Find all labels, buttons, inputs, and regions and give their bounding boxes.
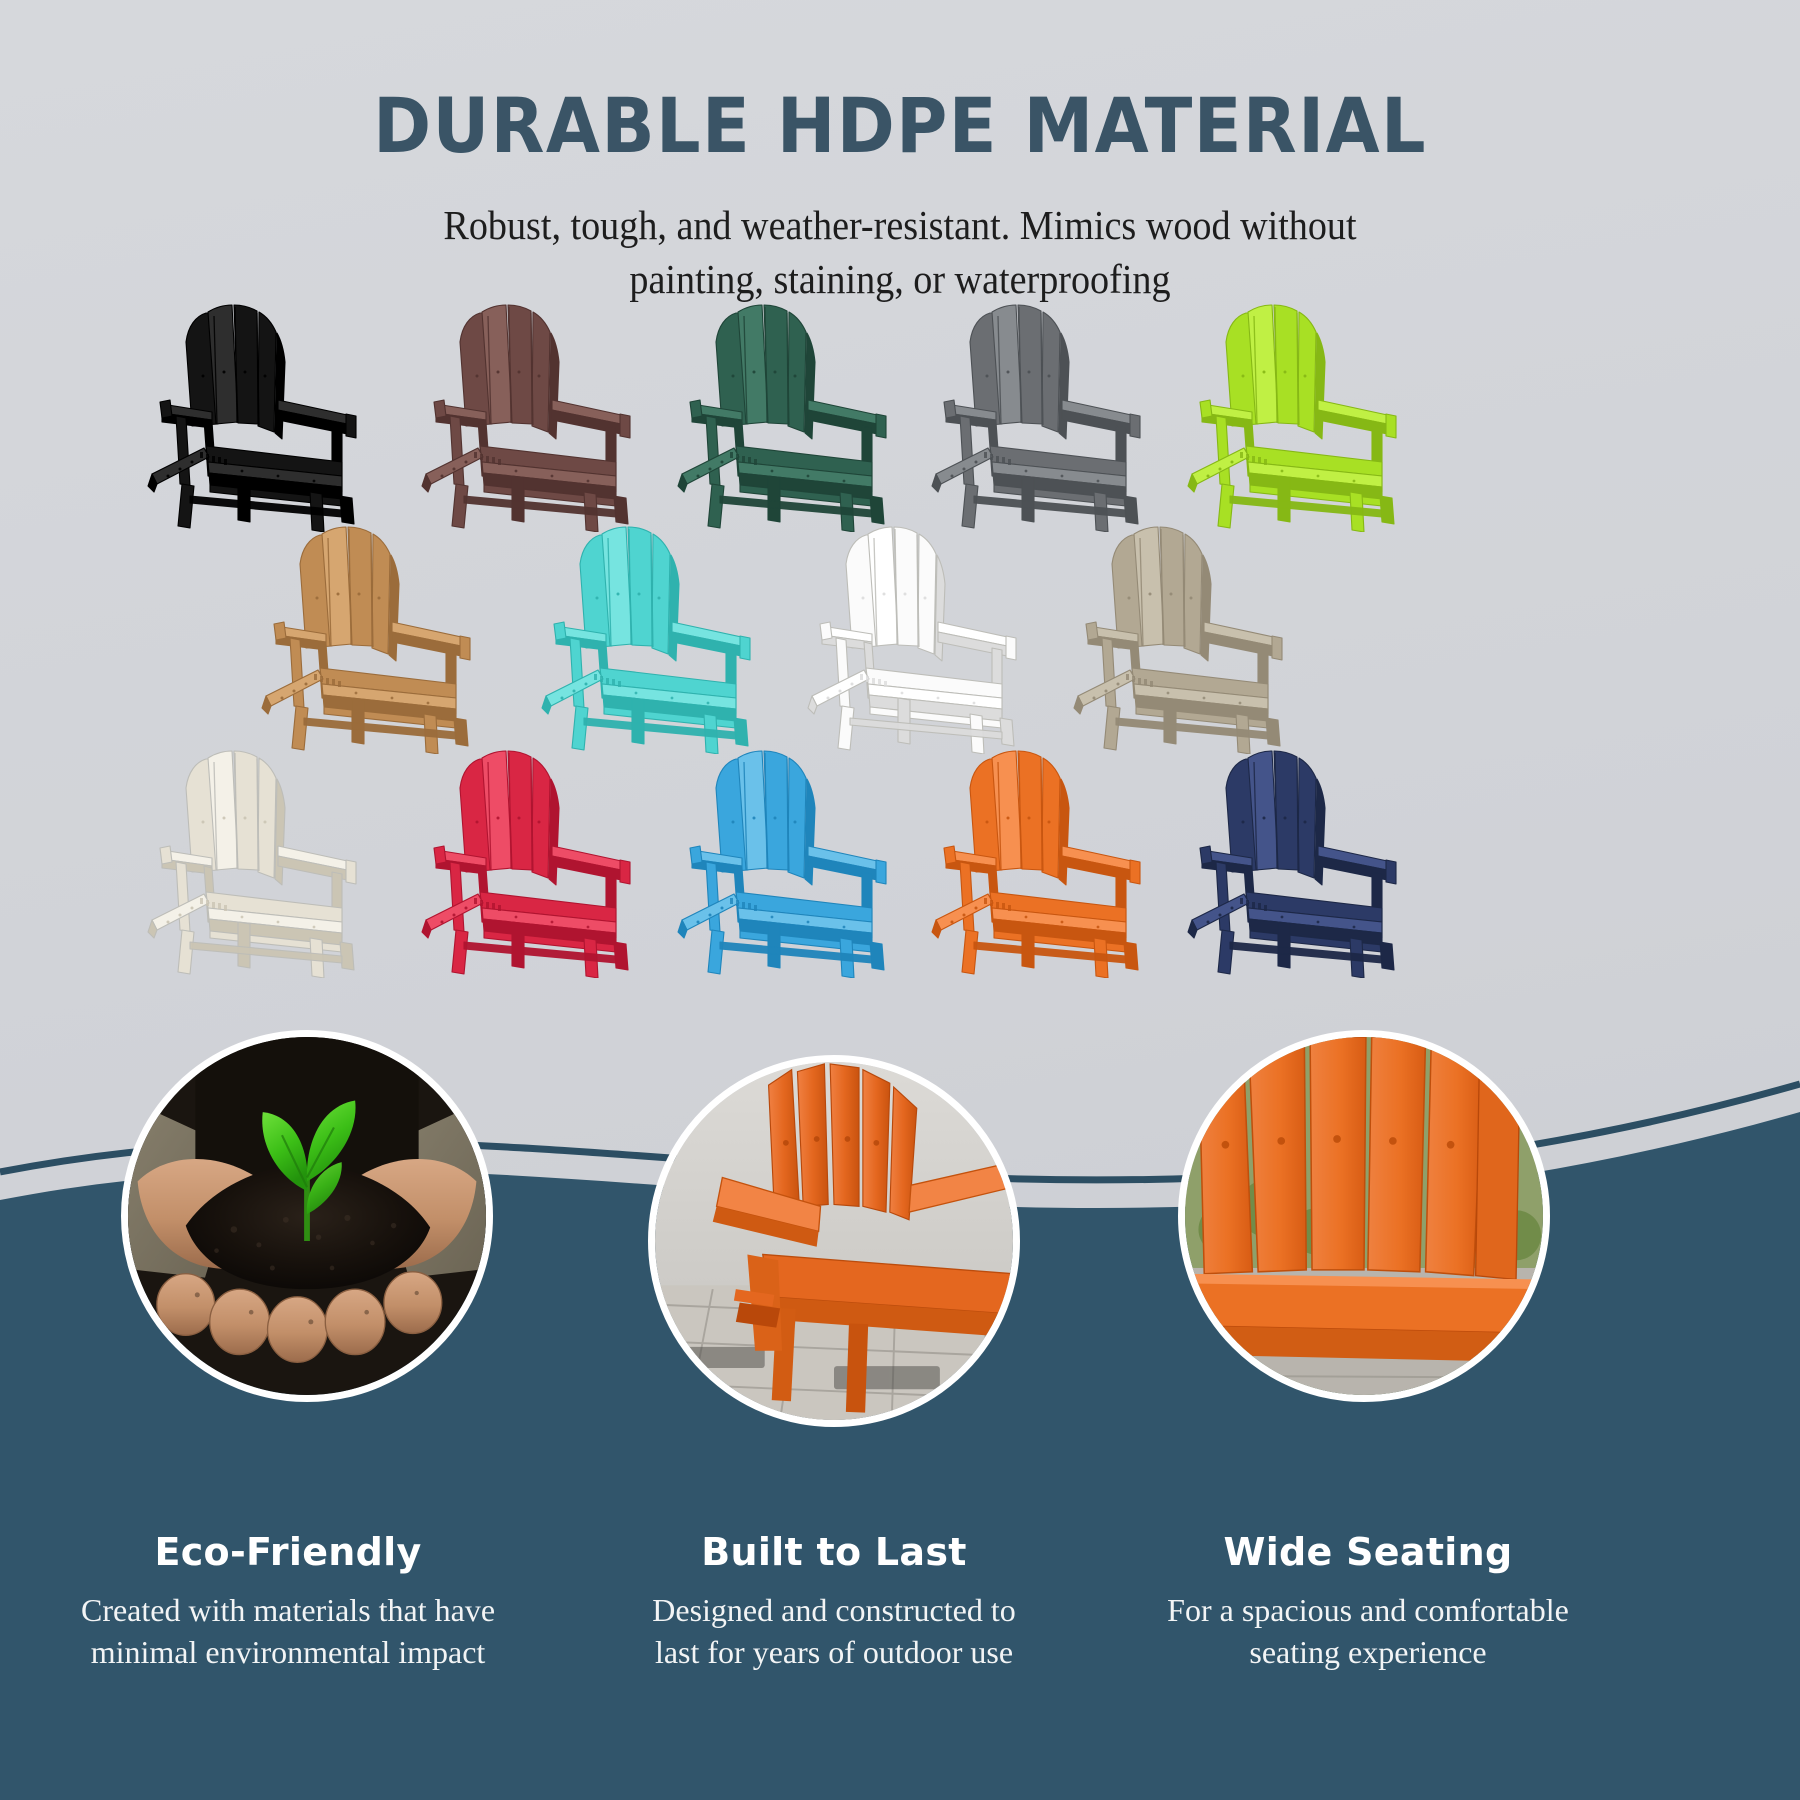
feature-image-wide-seating <box>1178 1030 1550 1402</box>
orange-chair-wide-seat-photo <box>1185 1037 1543 1395</box>
feature-desc-built-to-last: Designed and constructed to last for yea… <box>564 1590 1104 1674</box>
feature-desc-line-2: minimal environmental impact <box>18 1632 558 1674</box>
feature-desc-line-2: seating experience <box>1098 1632 1638 1674</box>
orange-chair-patio-photo <box>655 1062 1013 1420</box>
feature-title-built-to-last: Built to Last <box>564 1530 1104 1574</box>
feature-image-built-to-last <box>648 1055 1020 1427</box>
feature-desc-line-1: Designed and constructed to <box>564 1590 1104 1632</box>
feature-desc-wide-seating: For a spacious and comfortable seating e… <box>1098 1590 1638 1674</box>
hands-seedling-photo <box>128 1037 486 1395</box>
infographic-poster: DURABLE HDPE MATERIAL Robust, tough, and… <box>0 0 1800 1800</box>
feature-title-wide-seating: Wide Seating <box>1098 1530 1638 1574</box>
feature-eco-friendly: Eco-Friendly Created with materials that… <box>18 1530 558 1674</box>
feature-desc-line-2: last for years of outdoor use <box>564 1632 1104 1674</box>
feature-built-to-last: Built to Last Designed and constructed t… <box>564 1530 1104 1674</box>
feature-desc-line-1: Created with materials that have <box>18 1590 558 1632</box>
feature-desc-eco-friendly: Created with materials that have minimal… <box>18 1590 558 1674</box>
feature-desc-line-1: For a spacious and comfortable <box>1098 1590 1638 1632</box>
feature-title-eco-friendly: Eco-Friendly <box>18 1530 558 1574</box>
feature-wide-seating: Wide Seating For a spacious and comforta… <box>1098 1530 1638 1674</box>
feature-image-eco-friendly <box>121 1030 493 1402</box>
